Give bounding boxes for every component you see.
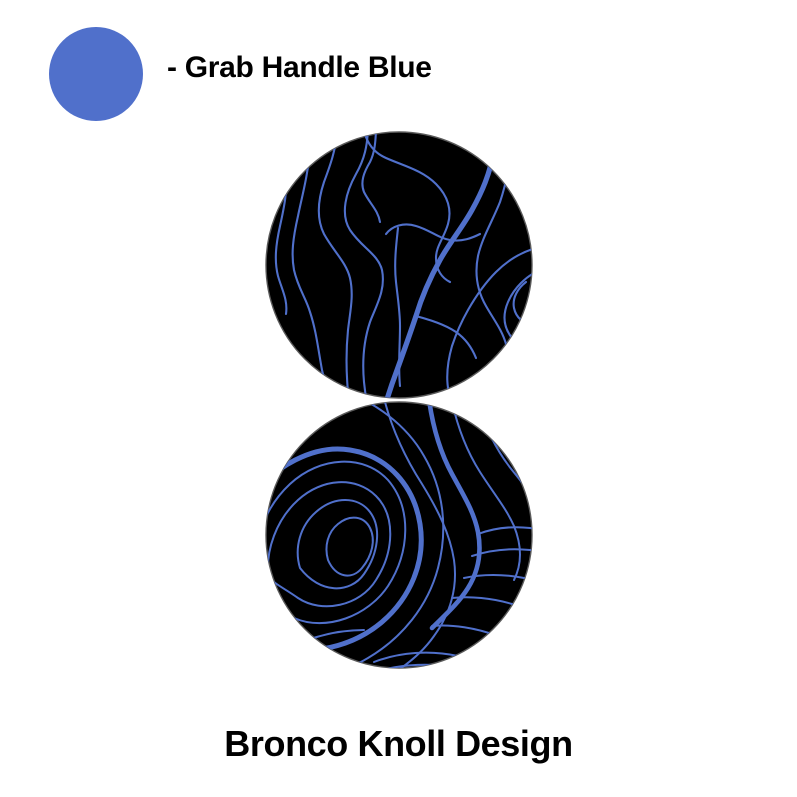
design-canvas: - Grab Handle Blue — [0, 0, 797, 797]
color-legend: - Grab Handle Blue — [0, 0, 797, 150]
grab-handle-blue-swatch — [49, 27, 143, 121]
contour-map-disc-top — [264, 130, 534, 400]
page-title: Bronco Knoll Design — [0, 722, 797, 766]
contour-map-disc-bottom — [264, 400, 534, 670]
legend-label: - Grab Handle Blue — [167, 50, 432, 86]
